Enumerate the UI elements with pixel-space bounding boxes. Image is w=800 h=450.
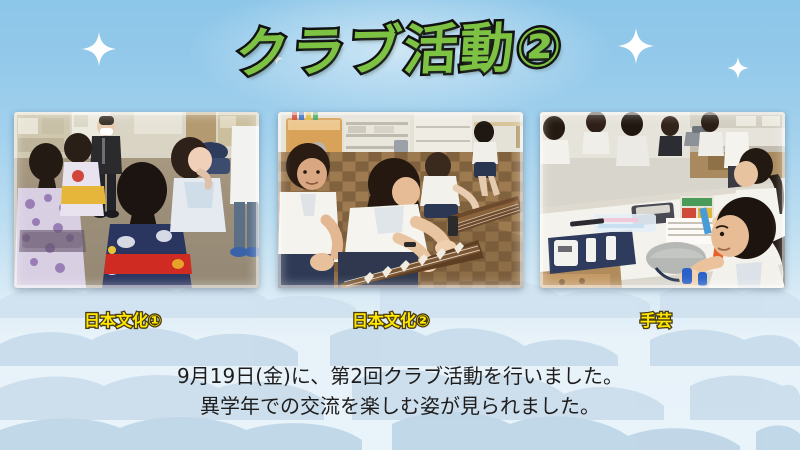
photo-japanese-culture-1-image xyxy=(14,112,259,288)
slide-title-container: クラブ活動② xyxy=(0,6,800,85)
cloud-decoration xyxy=(0,270,800,450)
photo-caption-2: 日本文化② xyxy=(352,307,430,331)
photo-caption-1: 日本文化① xyxy=(84,307,162,331)
body-text-line-2: 異学年での交流を楽しむ姿が見られました。 xyxy=(0,391,800,421)
photo-handicrafts xyxy=(540,112,785,288)
slide-canvas: クラブ活動② xyxy=(0,0,800,450)
photo-japanese-culture-2 xyxy=(278,112,523,288)
body-text-block: 9月19日(金)に、第2回クラブ活動を行いました。 異学年での交流を楽しむ姿が見… xyxy=(0,361,800,421)
photo-japanese-culture-2-image xyxy=(278,112,523,288)
photo-caption-3: 手芸 xyxy=(640,307,672,331)
slide-title: クラブ活動② xyxy=(233,3,567,89)
photo-handicrafts-image xyxy=(540,112,785,288)
body-text-line-1: 9月19日(金)に、第2回クラブ活動を行いました。 xyxy=(0,361,800,391)
photo-japanese-culture-1 xyxy=(14,112,259,288)
